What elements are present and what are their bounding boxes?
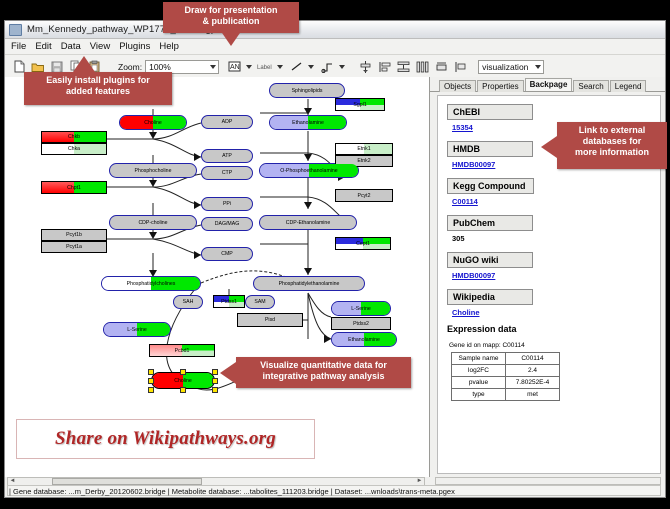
share-banner: Share on Wikipathways.org — [16, 419, 315, 459]
status-bar: ◄ ► | Gene database: ...m_Derby_20120602… — [5, 477, 665, 497]
node-chkb[interactable]: Chkb — [41, 131, 107, 143]
line-icon[interactable] — [288, 58, 305, 75]
cell-value: 2.4 — [506, 365, 560, 377]
gene-id-on-mapp: Gene id on mapp: C00114 — [449, 342, 660, 349]
callout-plugins-line2: added features — [24, 86, 172, 97]
db-link-nugo[interactable]: HMDB00097 — [452, 271, 660, 280]
cell-key: Sample name — [452, 353, 506, 365]
distribute-icon[interactable] — [414, 58, 431, 75]
node-cdp-ethanolamine[interactable]: CDP-Ethanolamine — [259, 215, 357, 230]
chevron-down-icon — [339, 65, 345, 69]
tab-backpage[interactable]: Backpage — [525, 78, 573, 91]
callout-visualize-line1: Visualize quantitative data for — [236, 360, 411, 371]
pathway-canvas[interactable]: Sphingolipids Choline Ethanolamine ADP A… — [5, 77, 429, 477]
callout-links-arrow — [541, 136, 557, 158]
order-icon[interactable] — [452, 58, 469, 75]
chevron-down-icon — [308, 65, 314, 69]
db-name-nugo: NuGO wiki — [447, 252, 533, 268]
align-left-icon[interactable] — [376, 58, 393, 75]
node-l-serine-right[interactable]: L-Serine — [331, 301, 391, 316]
table-row: type met — [452, 389, 560, 401]
callout-plugins-arrow — [73, 56, 95, 72]
resize-handle[interactable] — [212, 387, 218, 393]
db-link-kegg[interactable]: C00114 — [452, 197, 660, 206]
cell-key: type — [452, 389, 506, 401]
resize-handle[interactable] — [148, 387, 154, 393]
callout-draw-line2: & publication — [163, 16, 299, 27]
title-bar: Mm_Kennedy_pathway_WP1771_45176.gpml — [5, 21, 665, 39]
tab-legend[interactable]: Legend — [610, 80, 647, 92]
scroll-right-arrow[interactable]: ► — [415, 478, 424, 485]
zoom-label: Zoom: — [118, 62, 142, 72]
db-link-wikipedia[interactable]: Choline — [452, 308, 660, 317]
node-phosphatidylethanolamine[interactable]: Phosphatidylethanolamine — [253, 276, 365, 291]
db-block-pubchem: PubChem 305 — [447, 213, 660, 243]
resize-handle[interactable] — [148, 369, 154, 375]
callout-visualize-line2: integrative pathway analysis — [236, 371, 411, 382]
node-atp[interactable]: ATP — [201, 149, 253, 163]
datanode-dropdown[interactable]: AN — [226, 58, 256, 75]
svg-text:Label: Label — [257, 65, 272, 71]
node-etnk1[interactable]: Etnk1 — [335, 143, 393, 155]
callout-draw-line1: Draw for presentation — [163, 5, 299, 16]
table-row: log2FC 2.4 — [452, 365, 560, 377]
resize-handle[interactable] — [148, 378, 154, 384]
db-value-pubchem: 305 — [452, 234, 660, 243]
node-ptdss1[interactable]: Ptdss1 — [213, 295, 245, 308]
node-l-serine-left[interactable]: L-Serine — [103, 322, 171, 337]
chevron-down-icon — [210, 65, 216, 69]
scrollbar-thumb[interactable] — [52, 478, 202, 485]
table-row: Sample name C00114 — [452, 353, 560, 365]
visualization-combo[interactable]: visualization — [478, 60, 544, 74]
menu-view[interactable]: View — [90, 41, 110, 52]
node-pcyt2[interactable]: Pcyt2 — [335, 189, 393, 202]
node-ptdss2[interactable]: Ptdss2 — [331, 317, 391, 330]
chevron-down-icon — [535, 65, 541, 69]
node-sphingolipids[interactable]: Sphingolipids — [269, 83, 345, 98]
tab-objects[interactable]: Objects — [439, 80, 476, 92]
resize-handle[interactable] — [212, 378, 218, 384]
resize-handle[interactable] — [212, 369, 218, 375]
db-name-wikipedia: Wikipedia — [447, 289, 533, 305]
db-name-pubchem: PubChem — [447, 215, 533, 231]
cell-value: 7.80252E-4 — [506, 377, 560, 389]
callout-links-line2: databases for — [557, 136, 667, 147]
cell-value: met — [506, 389, 560, 401]
stack-icon[interactable] — [395, 58, 412, 75]
resize-handle[interactable] — [180, 369, 186, 375]
resize-handle[interactable] — [180, 387, 186, 393]
db-block-nugo: NuGO wiki HMDB00097 — [447, 250, 660, 280]
expression-table: Sample name C00114 log2FC 2.4 pvalue 7.8… — [451, 352, 560, 401]
table-row: pvalue 7.80252E-4 — [452, 377, 560, 389]
screenshot-root: Mm_Kennedy_pathway_WP1771_45176.gpml Fil… — [0, 0, 670, 509]
node-pcyt1a[interactable]: Pcyt1a — [41, 241, 107, 253]
menu-file[interactable]: File — [11, 41, 26, 52]
db-block-wikipedia: Wikipedia Choline — [447, 287, 660, 317]
cell-key: pvalue — [452, 377, 506, 389]
node-chpt1[interactable]: Chpt1 — [41, 181, 107, 194]
cell-value: C00114 — [506, 353, 560, 365]
connector-icon[interactable] — [319, 58, 336, 75]
db-block-kegg: Kegg Compound C00114 — [447, 176, 660, 206]
node-sam[interactable]: SAM — [245, 295, 275, 309]
node-phosphocholine[interactable]: Phosphocholine — [109, 163, 197, 178]
node-cdp-choline[interactable]: CDP-choline — [109, 215, 197, 230]
menu-plugins[interactable]: Plugins — [119, 41, 150, 52]
node-phosphatidylcholines[interactable]: Phosphatidylcholines — [101, 276, 201, 291]
node-adp[interactable]: ADP — [201, 115, 253, 129]
connector-dropdown[interactable] — [319, 58, 349, 75]
node-pcyt1b[interactable]: Pcyt1b — [41, 229, 107, 241]
node-chka[interactable]: Chka — [41, 143, 107, 155]
expression-data-heading: Expression data — [447, 324, 660, 334]
menu-help[interactable]: Help — [159, 41, 179, 52]
node-sgpl1[interactable]: Sgpl1 — [335, 98, 385, 111]
align-center-icon[interactable] — [357, 58, 374, 75]
callout-links: Link to external databases for more info… — [557, 122, 667, 169]
menu-edit[interactable]: Edit — [35, 41, 51, 52]
callout-draw: Draw for presentation & publication — [163, 2, 299, 33]
node-ethanolamine-top[interactable]: Ethanolamine — [269, 115, 347, 130]
side-panel-tabs: Objects Properties Backpage Search Legen… — [430, 77, 665, 92]
node-pisd[interactable]: Pisd — [237, 313, 303, 327]
group-icon[interactable] — [433, 58, 450, 75]
line-dropdown[interactable] — [288, 58, 318, 75]
node-pcbd1[interactable]: Pcbd1 — [149, 344, 215, 357]
pathway-canvas-panel[interactable]: Title: Availa Organ — [5, 77, 430, 477]
pathvisio-icon — [9, 24, 22, 36]
callout-links-line1: Link to external — [557, 125, 667, 136]
node-ethanolamine-right[interactable]: Ethanolamine — [331, 332, 397, 347]
side-panel-bottom-strip — [435, 477, 661, 485]
tab-search[interactable]: Search — [573, 80, 608, 92]
db-name-hmdb: HMDB — [447, 141, 533, 157]
selected-node-wrapper[interactable]: Choline — [151, 372, 215, 389]
tab-properties[interactable]: Properties — [477, 80, 523, 92]
zoom-value: 100% — [149, 62, 171, 72]
share-banner-text: Share on Wikipathways.org — [55, 428, 276, 450]
label-dropdown[interactable]: Label — [257, 58, 287, 75]
callout-links-line3: more information — [557, 147, 667, 158]
node-choline-top[interactable]: Choline — [119, 115, 187, 130]
scroll-left-arrow[interactable]: ◄ — [8, 478, 17, 485]
callout-visualize: Visualize quantitative data for integrat… — [236, 357, 411, 388]
db-name-chebi: ChEBI — [447, 104, 533, 120]
node-cept1[interactable]: Cept1 — [335, 237, 391, 250]
callout-draw-arrow — [220, 30, 242, 46]
node-ophosphoethanolamine[interactable]: O-Phosphoethanolamine — [259, 163, 359, 178]
node-sah[interactable]: SAH — [173, 295, 203, 309]
callout-visualize-arrow — [220, 362, 236, 384]
visualization-value: visualization — [482, 62, 528, 72]
svg-text:AN: AN — [230, 64, 240, 71]
node-cmp[interactable]: CMP — [201, 247, 253, 261]
label-icon[interactable]: Label — [257, 58, 274, 75]
cell-key: log2FC — [452, 365, 506, 377]
node-ctp[interactable]: CTP — [201, 166, 253, 180]
menu-data[interactable]: Data — [61, 41, 81, 52]
callout-plugins: Easily install plugins for added feature… — [24, 72, 172, 105]
node-dagmag[interactable]: DAG/MAG — [201, 217, 253, 231]
status-text: | Gene database: ...m_Derby_20120602.bri… — [9, 487, 455, 496]
chevron-down-icon — [277, 65, 283, 69]
callout-plugins-line1: Easily install plugins for — [24, 75, 172, 86]
db-name-kegg: Kegg Compound — [447, 178, 534, 194]
node-ppi[interactable]: PPi — [201, 197, 253, 211]
chevron-down-icon — [246, 65, 252, 69]
menu-bar: File Edit Data View Plugins Help — [5, 39, 665, 55]
datanode-icon[interactable]: AN — [226, 58, 243, 75]
